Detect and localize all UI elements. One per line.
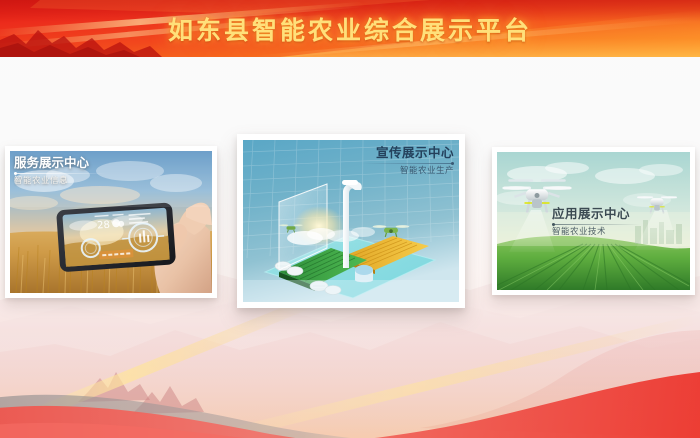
card-application-divider: [552, 224, 640, 225]
card-service-divider: [14, 173, 106, 174]
card-promotion-text-block: 宣传展示中心 智能农业生产: [362, 146, 454, 176]
card-promotion-subtitle: 智能农业生产: [362, 167, 454, 176]
card-service-subtitle: 智能农业信息: [14, 177, 106, 186]
card-service-display-center[interactable]: 28: [5, 146, 217, 298]
card-application-title: 应用展示中心: [552, 207, 640, 220]
card-promotion-title: 宣传展示中心: [362, 146, 454, 159]
card-service-text-block: 服务展示中心 智能农业信息: [14, 156, 106, 186]
card-application-subtitle: 智能农业技术: [552, 228, 640, 237]
svg-text:28: 28: [97, 220, 110, 232]
card-application-text-block: 应用展示中心 智能农业技术: [552, 207, 640, 237]
card-application-display-center[interactable]: 应用展示中心 智能农业技术: [492, 147, 695, 295]
platform-landing-page: 如东县智能农业综合展示平台: [0, 0, 700, 438]
page-title: 如东县智能农业综合展示平台: [0, 0, 700, 57]
page-header-banner: 如东县智能农业综合展示平台: [0, 0, 700, 57]
card-promotion-divider: [362, 163, 454, 164]
card-service-title: 服务展示中心: [14, 156, 106, 169]
card-promotion-display-center[interactable]: 宣传展示中心 智能农业生产: [237, 134, 465, 308]
